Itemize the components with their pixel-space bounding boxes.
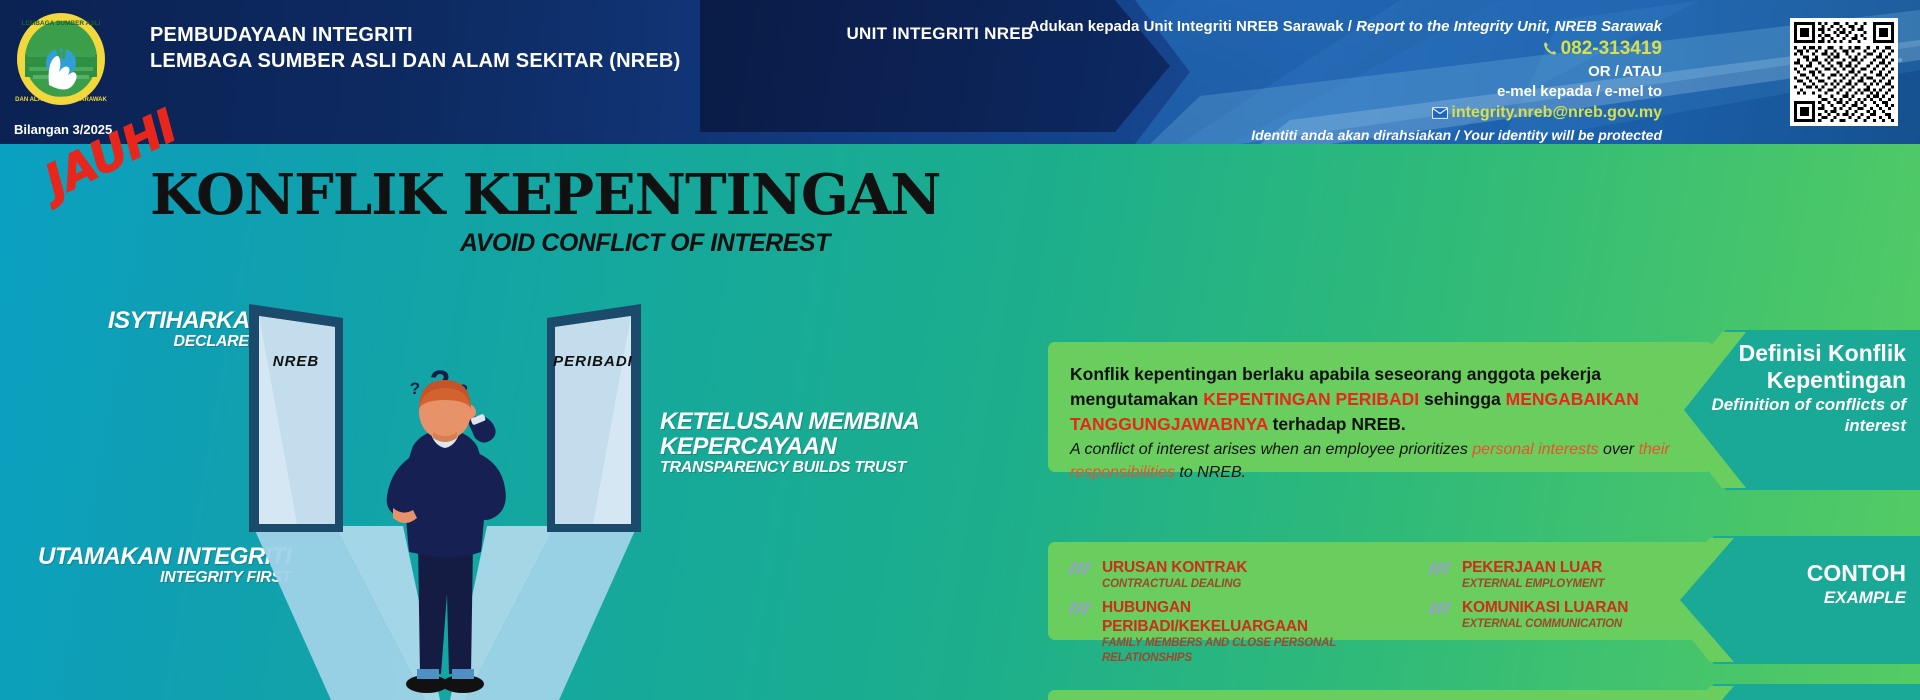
tab-arrow-action (1660, 684, 1920, 700)
tab-example-en: EXAMPLE (1676, 587, 1906, 608)
definition-en-part3: to NREB. (1175, 464, 1246, 481)
contact-report-en: Report to the Integrity Unit, NREB Saraw… (1356, 18, 1662, 35)
contact-phone: 082-313419 (1561, 38, 1662, 59)
card-definition: Konflik kepentingan berlaku apabila sese… (1048, 342, 1713, 472)
card-action: Laporkan sebarang kemungkinan konflik ke… (1048, 690, 1713, 700)
nreb-logo: LEMBAGA SUMBER ASLI DAN ALAM SEKITAR SAR… (13, 11, 109, 107)
contact-email-line[interactable]: integrity.nreb@nreb.gov.my (1002, 102, 1662, 125)
poster-root: LEMBAGA SUMBER ASLI DAN ALAM SEKITAR SAR… (0, 0, 1920, 700)
slogan-transparency: KETELUSAN MEMBINA KEPERCAYAAN TRANSPAREN… (660, 409, 920, 476)
card-example: URUSAN KONTRAK CONTRACTUAL DEALING HUBUN… (1048, 542, 1713, 640)
svg-text:PERIBADI: PERIBADI (553, 353, 633, 370)
contact-email: integrity.nreb@nreb.gov.my (1451, 104, 1662, 121)
phone-icon (1543, 39, 1558, 62)
tab-definition: Definisi Konflik Kepentingan Definition … (1676, 340, 1906, 436)
definition-en-highlight1: personal interests (1472, 441, 1598, 458)
svg-text:DAN ALAM SEKITAR SARAWAK: DAN ALAM SEKITAR SARAWAK (15, 97, 107, 103)
list-item: URUSAN KONTRAK CONTRACTUAL DEALING (1066, 558, 1396, 592)
example-ms: URUSAN KONTRAK (1102, 558, 1396, 577)
definition-ms-part2: sehingga (1419, 389, 1506, 409)
envelope-icon (1432, 104, 1448, 125)
definition-text-en: A conflict of interest arises when an em… (1070, 438, 1700, 484)
slogan-trust-en: TRANSPARENCY BUILDS TRUST (660, 459, 920, 476)
header-title-line2: LEMBAGA SUMBER ASLI DAN ALAM SEKITAR (NR… (150, 48, 680, 74)
svg-text:LEMBAGA SUMBER ASLI: LEMBAGA SUMBER ASLI (22, 20, 101, 27)
definition-en-part1: A conflict of interest arises when an em… (1070, 441, 1472, 458)
contact-or: OR / ATAU (1002, 62, 1662, 82)
definition-ms-highlight1: KEPENTINGAN PERIBADI (1203, 389, 1419, 409)
tab-definition-en: Definition of conflicts of interest (1676, 394, 1906, 436)
tab-example-ms: CONTOH (1676, 560, 1906, 587)
slogan-trust-ms-line2: KEPERCAYAAN (660, 434, 920, 459)
list-item: HUBUNGAN PERIBADI/KEKELUARGAAN FAMILY ME… (1066, 598, 1396, 666)
example-ms: HUBUNGAN PERIBADI/KEKELUARGAAN (1102, 598, 1396, 636)
header: LEMBAGA SUMBER ASLI DAN ALAM SEKITAR SAR… (0, 0, 1920, 144)
illustration-two-doors: NREB PERIBADI ? ? ? (235, 294, 655, 700)
contact-block: Adukan kepada Unit Integriti NREB Sarawa… (1002, 16, 1662, 144)
example-en: FAMILY MEMBERS AND CLOSE PERSONAL RELATI… (1102, 636, 1396, 666)
page-subtitle: AVOID CONFLICT OF INTEREST (460, 229, 830, 258)
tab-definition-ms: Definisi Konflik Kepentingan (1676, 340, 1906, 394)
chevron-bullet-icon (1428, 561, 1456, 575)
contact-phone-line[interactable]: 082-313419 (1002, 37, 1662, 62)
definition-ms-part3: terhadap NREB. (1268, 414, 1406, 434)
definition-en-part2: over (1599, 441, 1639, 458)
contact-privacy-note: Identiti anda akan dirahsiakan / Your id… (1002, 125, 1662, 144)
qr-code[interactable] (1790, 18, 1898, 126)
definition-text-ms: Konflik kepentingan berlaku apabila sese… (1070, 362, 1700, 437)
chevron-bullet-icon (1068, 601, 1096, 615)
page-title: KONFLIK KEPENTINGAN (150, 162, 940, 228)
chevron-bullet-icon (1428, 601, 1456, 615)
slogan-trust-ms-line1: KETELUSAN MEMBINA (660, 409, 920, 434)
contact-report-line: Adukan kepada Unit Integriti NREB Sarawa… (1002, 16, 1662, 37)
poster-body: JAUHI KONFLIK KEPENTINGAN AVOID CONFLICT… (0, 144, 1920, 700)
chevron-bullet-icon (1068, 561, 1096, 575)
contact-separator: / (1348, 18, 1352, 35)
header-title-line1: PEMBUDAYAAN INTEGRITI (150, 22, 680, 48)
svg-text:?: ? (410, 379, 420, 398)
contact-report-ms: Adukan kepada Unit Integriti NREB Sarawa… (1029, 18, 1344, 35)
contact-email-label: e-mel kepada / e-mel to (1002, 82, 1662, 102)
header-title: PEMBUDAYAAN INTEGRITI LEMBAGA SUMBER ASL… (150, 22, 680, 74)
example-column-left: URUSAN KONTRAK CONTRACTUAL DEALING HUBUN… (1066, 558, 1396, 672)
tab-example: CONTOH EXAMPLE (1676, 560, 1906, 608)
example-en: CONTRACTUAL DEALING (1102, 577, 1396, 592)
svg-text:NREB: NREB (273, 353, 320, 370)
